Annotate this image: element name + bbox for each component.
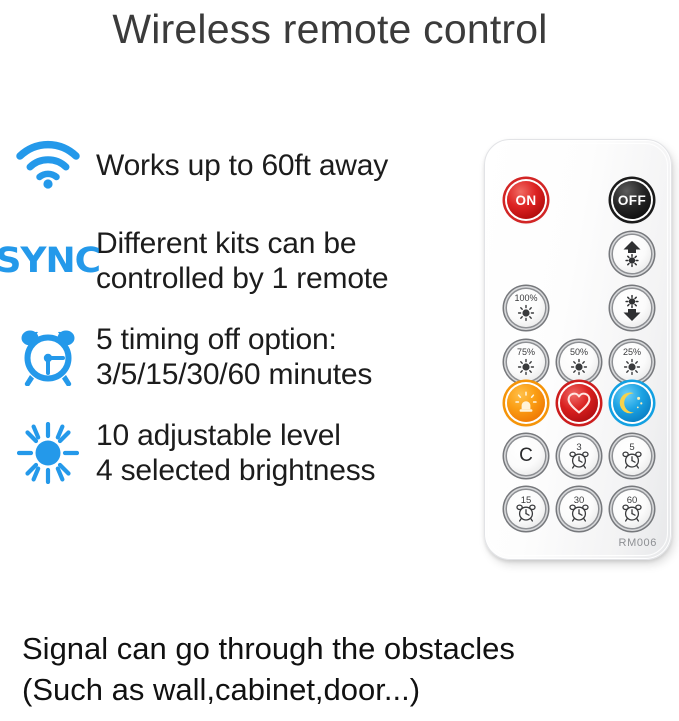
alarm-clock-icon: [569, 451, 589, 469]
sun-icon: [569, 357, 589, 376]
pct-label: 25%: [623, 348, 641, 357]
feature-row-brightness: 10 adjustable level 4 selected brightnes…: [0, 416, 470, 490]
remote-button-siren[interactable]: [507, 384, 545, 422]
infographic-page: Wireless remote control Works up to 60ft…: [0, 0, 679, 721]
pct-label: 75%: [517, 348, 535, 357]
feature-line: controlled by 1 remote: [96, 261, 388, 296]
feature-row-timer: 5 timing off option: 3/5/15/30/60 minute…: [0, 320, 470, 394]
feature-text-brightness: 10 adjustable level 4 selected brightnes…: [96, 418, 375, 488]
remote-button-off[interactable]: OFF: [613, 181, 651, 219]
sync-wordmark: SYNC: [0, 244, 100, 279]
on-button-label: ON: [515, 193, 536, 208]
feature-text-timer: 5 timing off option: 3/5/15/30/60 minute…: [96, 322, 372, 392]
feature-list: Works up to 60ft away SYNC Different kit…: [0, 128, 470, 490]
remote-button-75[interactable]: 75%: [507, 343, 545, 381]
remote-button-brightness-up[interactable]: [613, 235, 651, 273]
model-label: RM006: [619, 537, 657, 549]
alarm-clock-icon: [516, 504, 536, 522]
sun-icon: [622, 357, 642, 376]
feature-row-sync: SYNC Different kits can be controlled by…: [0, 224, 470, 298]
remote-button-heart[interactable]: [560, 384, 598, 422]
alarm-clock-icon: [622, 451, 642, 469]
bottom-caption: Signal can go through the obstacles (Suc…: [22, 628, 515, 710]
caption-line: (Such as wall,cabinet,door...): [22, 669, 515, 710]
remote-button-timer-60[interactable]: 60: [613, 490, 651, 528]
alarm-clock-icon: [0, 320, 96, 394]
sun-icon: [516, 357, 536, 376]
remote-button-night[interactable]: [613, 384, 651, 422]
alarm-clock-icon: [569, 504, 589, 522]
remote-button-timer-3[interactable]: 3: [560, 437, 598, 475]
feature-text-range: Works up to 60ft away: [96, 148, 388, 183]
remote-button-clear[interactable]: C: [507, 437, 545, 475]
feature-line: 5 timing off option:: [96, 322, 372, 357]
remote-control: ON OFF: [484, 139, 672, 560]
remote-button-brightness-down[interactable]: [613, 289, 651, 327]
remote-button-timer-5[interactable]: 5: [613, 437, 651, 475]
siren-lamp-icon: [514, 391, 538, 415]
feature-line: 3/5/15/30/60 minutes: [96, 357, 372, 392]
caption-line: Signal can go through the obstacles: [22, 628, 515, 669]
feature-line: 10 adjustable level: [96, 418, 375, 453]
feature-line: Different kits can be: [96, 226, 388, 261]
alarm-clock-icon: [622, 504, 642, 522]
page-title: Wireless remote control: [0, 2, 660, 56]
remote-button-25[interactable]: 25%: [613, 343, 651, 381]
remote-button-100[interactable]: 100%: [507, 289, 545, 327]
remote-button-on[interactable]: ON: [507, 181, 545, 219]
feature-row-range: Works up to 60ft away: [0, 128, 470, 202]
sync-icon: SYNC: [0, 224, 96, 298]
pct-label: 50%: [570, 348, 588, 357]
clear-button-label: C: [519, 445, 533, 467]
off-button-label: OFF: [618, 193, 646, 208]
heart-icon: [567, 392, 591, 414]
feature-text-sync: Different kits can be controlled by 1 re…: [96, 226, 388, 296]
moon-stars-icon: [619, 391, 645, 415]
remote-button-timer-15[interactable]: 15: [507, 490, 545, 528]
remote-button-50[interactable]: 50%: [560, 343, 598, 381]
wifi-icon: [0, 128, 96, 202]
pct-label: 100%: [514, 294, 537, 303]
feature-line: Works up to 60ft away: [96, 148, 388, 183]
sun-icon: [516, 303, 536, 322]
remote-button-timer-30[interactable]: 30: [560, 490, 598, 528]
brightness-up-icon: [619, 240, 645, 268]
brightness-down-icon: [619, 294, 645, 322]
sun-icon: [0, 416, 96, 490]
feature-line: 4 selected brightness: [96, 453, 375, 488]
